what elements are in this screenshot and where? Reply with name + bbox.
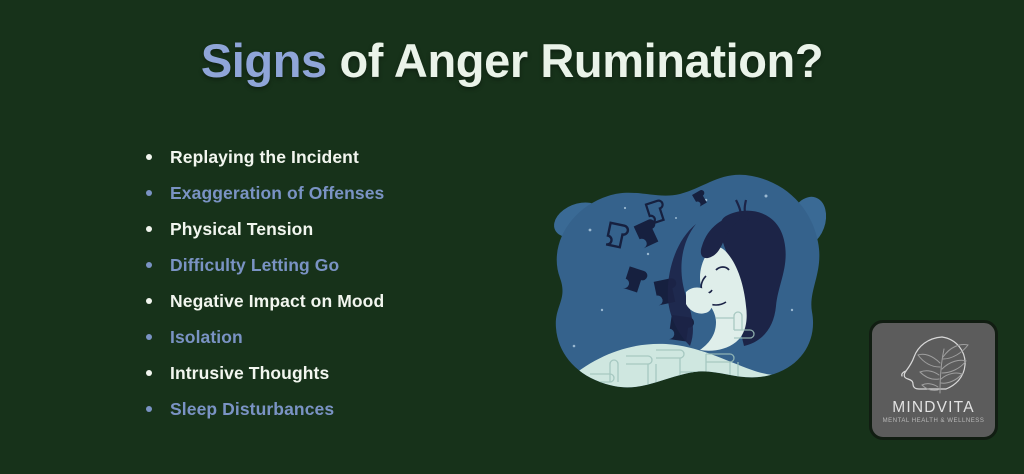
bullet-icon: [146, 370, 152, 376]
bullet-icon: [146, 226, 152, 232]
list-item-label: Sleep Disturbances: [170, 399, 334, 420]
list-item: Isolation: [146, 319, 384, 355]
bullet-icon: [146, 298, 152, 304]
page-title: Signs of Anger Rumination?: [0, 32, 1024, 90]
head-profile-with-leaves-icon: [872, 327, 995, 397]
list-item: Replaying the Incident: [146, 139, 384, 175]
list-item-label: Isolation: [170, 327, 243, 348]
logo-badge[interactable]: MINDVITA MENTAL HEALTH & WELLNESS: [869, 320, 998, 440]
list-item: Physical Tension: [146, 211, 384, 247]
list-item: Negative Impact on Mood: [146, 283, 384, 319]
list-item-label: Difficulty Letting Go: [170, 255, 339, 276]
list-item-label: Intrusive Thoughts: [170, 363, 329, 384]
list-item: Exaggeration of Offenses: [146, 175, 384, 211]
signs-list: Replaying the Incident Exaggeration of O…: [146, 139, 384, 427]
list-item-label: Physical Tension: [170, 219, 313, 240]
list-item: Difficulty Letting Go: [146, 247, 384, 283]
title-accent-word: Signs: [201, 34, 327, 87]
list-item-label: Negative Impact on Mood: [170, 291, 384, 312]
woman-with-puzzle-pieces-illustration: [530, 160, 850, 410]
list-item-label: Exaggeration of Offenses: [170, 183, 384, 204]
bullet-icon: [146, 190, 152, 196]
list-item: Sleep Disturbances: [146, 391, 384, 427]
list-item: Intrusive Thoughts: [146, 355, 384, 391]
bullet-icon: [146, 406, 152, 412]
logo-tagline: MENTAL HEALTH & WELLNESS: [872, 418, 995, 424]
bullet-icon: [146, 334, 152, 340]
bullet-icon: [146, 154, 152, 160]
list-item-label: Replaying the Incident: [170, 147, 359, 168]
slide-canvas: Signs of Anger Rumination? Replaying the…: [0, 0, 1024, 474]
title-rest: of Anger Rumination?: [327, 34, 823, 87]
bullet-icon: [146, 262, 152, 268]
logo-name: MINDVITA: [872, 399, 995, 417]
